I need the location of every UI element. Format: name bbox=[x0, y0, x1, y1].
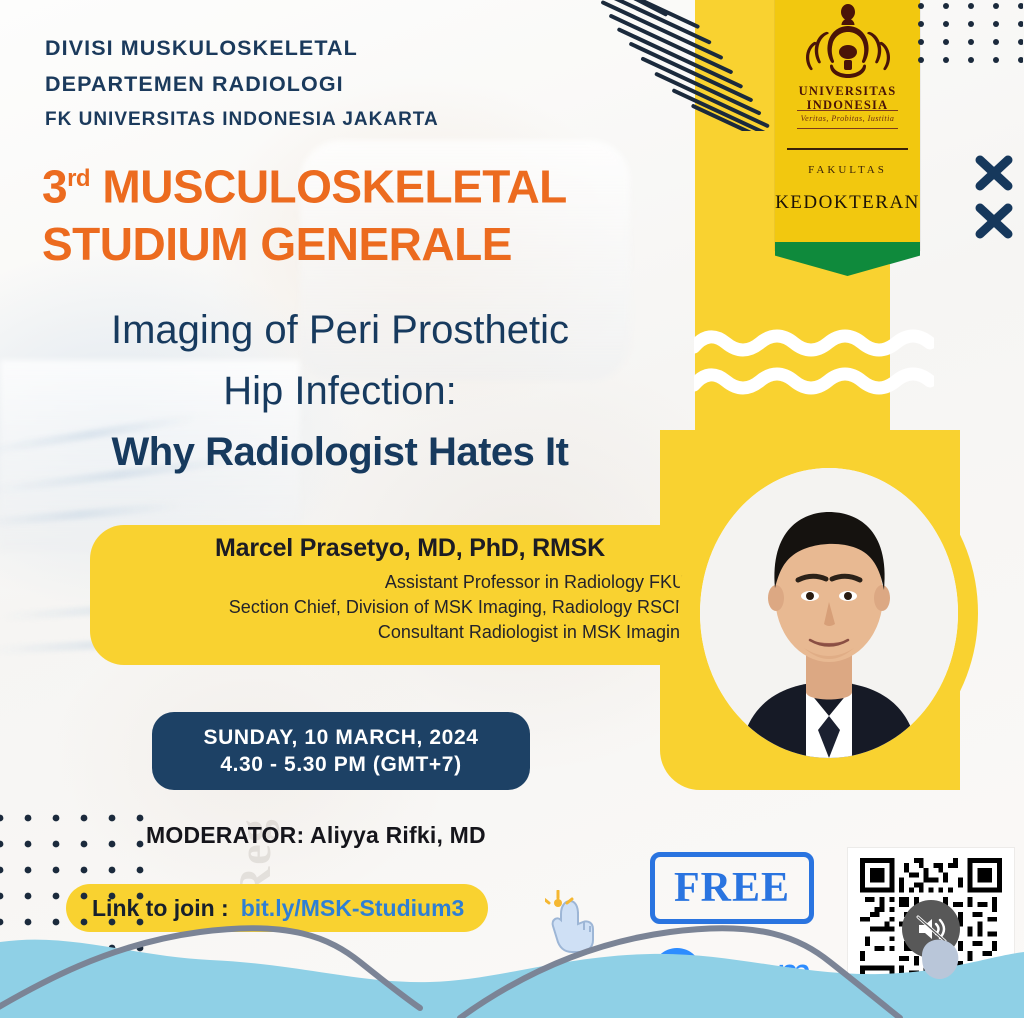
moderator-text: MODERATOR: Aliyya Rifki, MD bbox=[146, 822, 486, 849]
speaker-portrait bbox=[700, 468, 958, 758]
speaker-photo-icon bbox=[700, 468, 958, 758]
organization-lines: DIVISI MUSKULOSKELETAL DEPARTEMEN RADIOL… bbox=[45, 30, 439, 138]
schedule-pill: SUNDAY, 10 MARCH, 2024 4.30 - 5.30 PM (G… bbox=[152, 712, 530, 790]
org-line-2: DEPARTEMEN RADIOLOGI bbox=[45, 66, 439, 102]
speaker-name: Marcel Prasetyo, MD, PhD, RMSK bbox=[90, 534, 730, 563]
university-logo-motto: Veritas, Probitas, Iustitia bbox=[775, 114, 920, 123]
pebble-shape bbox=[916, 938, 962, 984]
org-line-1: DIVISI MUSKULOSKELETAL bbox=[45, 30, 439, 66]
dot-grid-top-right-icon bbox=[915, 2, 1023, 64]
faculty-name: KEDOKTERAN bbox=[775, 192, 920, 214]
x-marks-icon bbox=[968, 150, 1024, 246]
speaker-role-2: Section Chief, Division of MSK Imaging, … bbox=[90, 595, 690, 620]
event-title-line-1: 3rd MUSCULOSKELETAL bbox=[42, 150, 567, 215]
org-line-3: FK UNIVERSITAS INDONESIA JAKARTA bbox=[45, 102, 439, 138]
speaker-role-1: Assistant Professor in Radiology FKUI bbox=[90, 570, 690, 595]
event-title: 3rd MUSCULOSKELETAL STUDIUM GENERALE bbox=[42, 150, 567, 273]
diagonal-stripes-icon bbox=[585, 0, 785, 131]
university-logo: UNIVERSITAS INDONESIA Veritas, Probitas,… bbox=[775, 0, 920, 250]
logo-divider bbox=[787, 148, 908, 150]
schedule-time: 4.30 - 5.30 PM (GMT+7) bbox=[220, 753, 461, 777]
makara-crest-icon bbox=[800, 0, 896, 84]
event-title-main: MUSCULOSKELETAL bbox=[102, 160, 566, 212]
university-logo-name: UNIVERSITAS INDONESIA bbox=[775, 84, 920, 112]
event-ordinal-suffix: rd bbox=[67, 165, 90, 192]
university-logo-name-line1: UNIVERSITAS bbox=[799, 84, 897, 98]
panel-wavy-lines-icon bbox=[694, 325, 934, 403]
schedule-date: SUNDAY, 10 MARCH, 2024 bbox=[203, 726, 478, 750]
university-logo-name-line2: INDONESIA bbox=[807, 98, 889, 112]
speaker-roles: Assistant Professor in Radiology FKUI Se… bbox=[90, 570, 710, 645]
event-ordinal: 3 bbox=[42, 160, 67, 212]
topic-line-1: Imaging of Peri Prosthetic bbox=[20, 300, 660, 361]
topic-title: Imaging of Peri Prosthetic Hip Infection… bbox=[20, 300, 660, 483]
event-title-line-2: STUDIUM GENERALE bbox=[42, 215, 567, 273]
topic-line-2: Hip Infection: bbox=[20, 361, 660, 422]
topic-line-3: Why Radiologist Hates It bbox=[20, 422, 660, 483]
event-flyer: Reg re bbox=[0, 0, 1024, 1018]
bottom-wave-shape bbox=[0, 898, 1024, 1018]
speaker-role-3: Consultant Radiologist in MSK Imaging bbox=[90, 620, 690, 645]
logo-rule bbox=[797, 128, 898, 129]
faculty-label: FAKULTAS bbox=[775, 164, 920, 176]
